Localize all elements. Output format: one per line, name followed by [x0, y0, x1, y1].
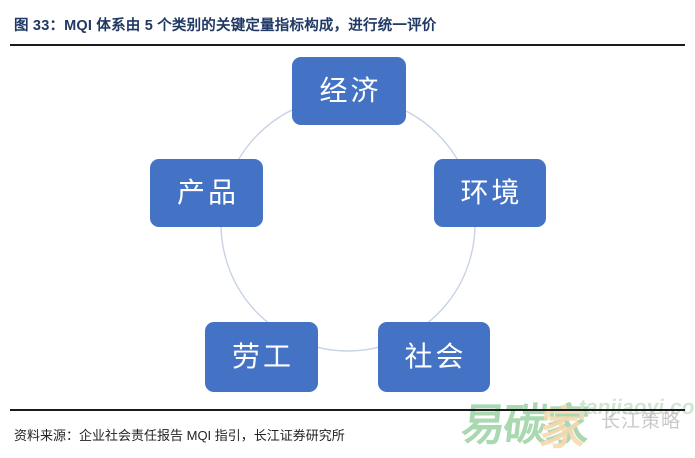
node-society[interactable]: 社会 [378, 322, 490, 392]
node-environment-label: 环境 [457, 179, 522, 207]
node-economy-label: 经济 [316, 77, 381, 105]
figure-header: 图 33：MQI 体系由 5 个类别的关键定量指标构成，进行统一评价 [0, 0, 695, 46]
node-environment[interactable]: 环境 [434, 159, 546, 227]
figure-page: 图 33：MQI 体系由 5 个类别的关键定量指标构成，进行统一评价 经济 环境… [0, 0, 695, 455]
node-labor-label: 劳工 [229, 343, 294, 371]
node-product-label: 产品 [174, 179, 239, 207]
node-economy[interactable]: 经济 [292, 57, 406, 125]
figure-title: 图 33：MQI 体系由 5 个类别的关键定量指标构成，进行统一评价 [14, 14, 437, 35]
figure-footer: 资料来源：企业社会责任报告 MQI 指引，长江证券研究所 [0, 409, 695, 455]
node-society-label: 社会 [401, 343, 466, 371]
node-product[interactable]: 产品 [150, 159, 263, 227]
source-label: 资料来源：企业社会责任报告 MQI 指引，长江证券研究所 [14, 425, 345, 444]
footer-divider [10, 409, 685, 411]
node-labor[interactable]: 劳工 [205, 322, 318, 392]
diagram-canvas: 经济 环境 社会 劳工 产品 [0, 46, 695, 409]
